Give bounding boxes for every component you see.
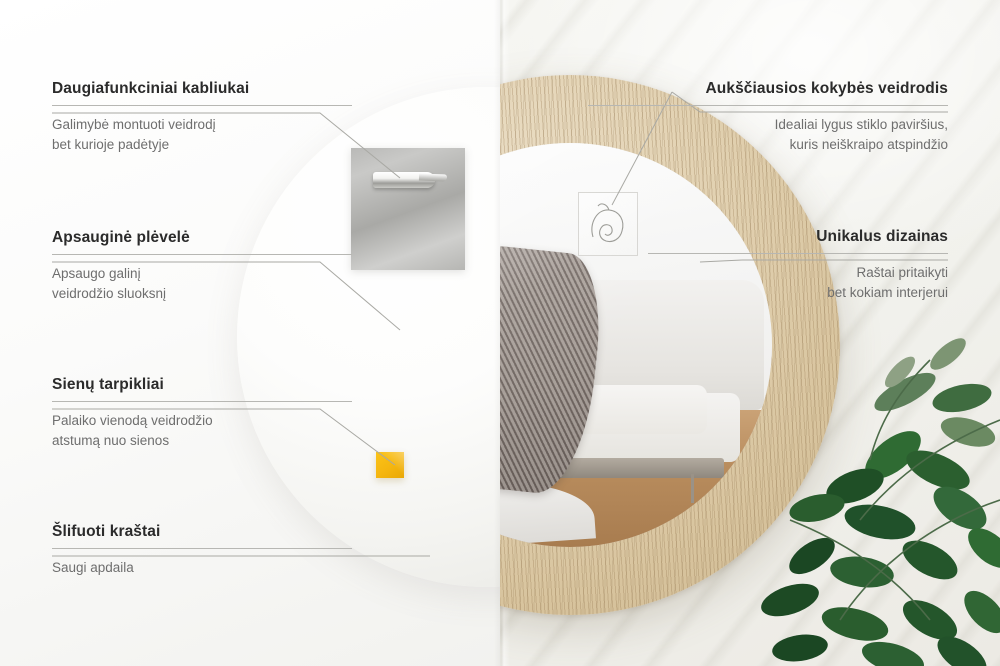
wood-frame-ring bbox=[500, 75, 840, 615]
wall-spacer-part bbox=[376, 452, 404, 478]
callout-wall-spacers: Sienų tarpikliai Palaiko vienodą veidrod… bbox=[52, 376, 352, 450]
callout-title: Unikalus dizainas bbox=[648, 228, 948, 246]
callout-rule bbox=[52, 548, 352, 549]
infographic-canvas: Daugiafunkciniai kabliukai Galimybė mont… bbox=[0, 0, 1000, 666]
callout-title: Daugiafunkciniai kabliukai bbox=[52, 80, 352, 98]
callout-title: Aukščiausios kokybės veidrodis bbox=[588, 80, 948, 98]
callout-top-quality-mirror: Aukščiausios kokybės veidrodis Idealiai … bbox=[588, 80, 948, 154]
callout-body: Idealiai lygus stiklo paviršius, kuris n… bbox=[588, 115, 948, 154]
callout-rule bbox=[588, 105, 948, 106]
callout-rule bbox=[52, 401, 352, 402]
callout-rule bbox=[52, 105, 352, 106]
callout-protective-film: Apsauginė plėvelė Apsaugo galinį veidrod… bbox=[52, 229, 352, 303]
hook-icon bbox=[373, 172, 435, 188]
callout-title: Apsauginė plėvelė bbox=[52, 229, 352, 247]
callout-body: Galimybė montuoti veidrodį bet kurioje p… bbox=[52, 115, 352, 154]
callout-rule bbox=[648, 253, 948, 254]
callout-body: Raštai pritaikyti bet kokiam interjerui bbox=[648, 263, 948, 302]
callout-unique-design: Unikalus dizainas Raštai pritaikyti bet … bbox=[648, 228, 948, 302]
callout-body: Palaiko vienodą veidrodžio atstumą nuo s… bbox=[52, 411, 352, 450]
callout-hooks: Daugiafunkciniai kabliukai Galimybė mont… bbox=[52, 80, 352, 154]
line-art-face-artwork bbox=[578, 192, 638, 256]
callout-body: Saugi apdaila bbox=[52, 558, 352, 578]
callout-title: Šlifuoti kraštai bbox=[52, 523, 352, 541]
callout-body: Apsaugo galinį veidrodžio sluoksnį bbox=[52, 264, 352, 303]
hook-plate-detail bbox=[351, 148, 465, 270]
callout-rule bbox=[52, 254, 352, 255]
callout-polished-edges: Šlifuoti kraštai Saugi apdaila bbox=[52, 523, 352, 578]
callout-title: Sienų tarpikliai bbox=[52, 376, 352, 394]
